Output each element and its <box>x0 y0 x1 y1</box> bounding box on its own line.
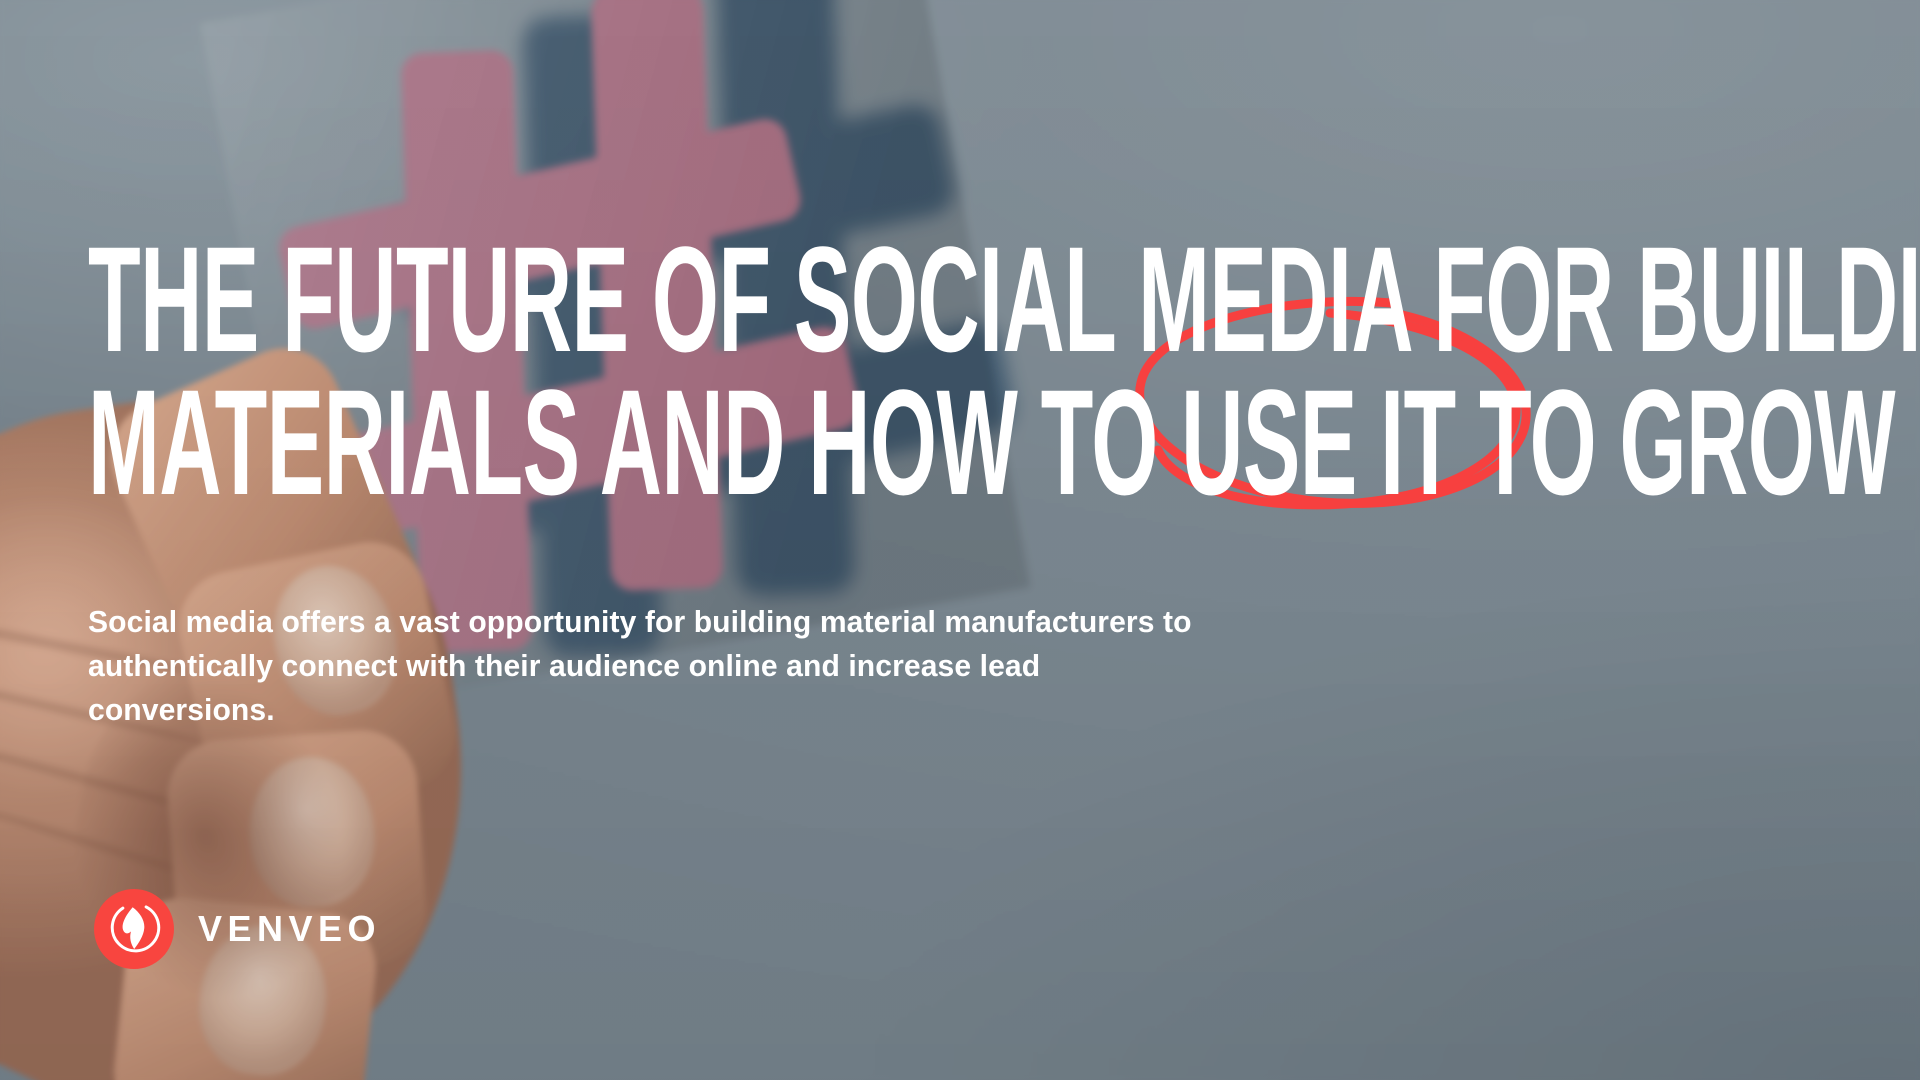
headline-line-2: MATERIALS AND HOW TO USE IT TO GROW SALE… <box>88 371 951 514</box>
subtitle-line-1: Social media offers a vast opportunity f… <box>88 604 1192 639</box>
venveo-wordmark: VENVEO <box>198 908 381 950</box>
headline-line-1: THE FUTURE OF SOCIAL MEDIA FOR BUILDING <box>88 228 951 371</box>
venveo-flame-icon <box>94 889 174 969</box>
page-subtitle: Social media offers a vast opportunity f… <box>88 600 1233 732</box>
page-title: THE FUTURE OF SOCIAL MEDIA FOR BUILDING … <box>88 228 951 513</box>
venveo-logo[interactable]: VENVEO <box>94 889 381 969</box>
hero-banner: THE FUTURE OF SOCIAL MEDIA FOR BUILDING … <box>0 0 1920 1080</box>
hero-content: THE FUTURE OF SOCIAL MEDIA FOR BUILDING … <box>0 0 1920 1080</box>
subtitle-line-2: authentically connect with their audienc… <box>88 648 1040 727</box>
